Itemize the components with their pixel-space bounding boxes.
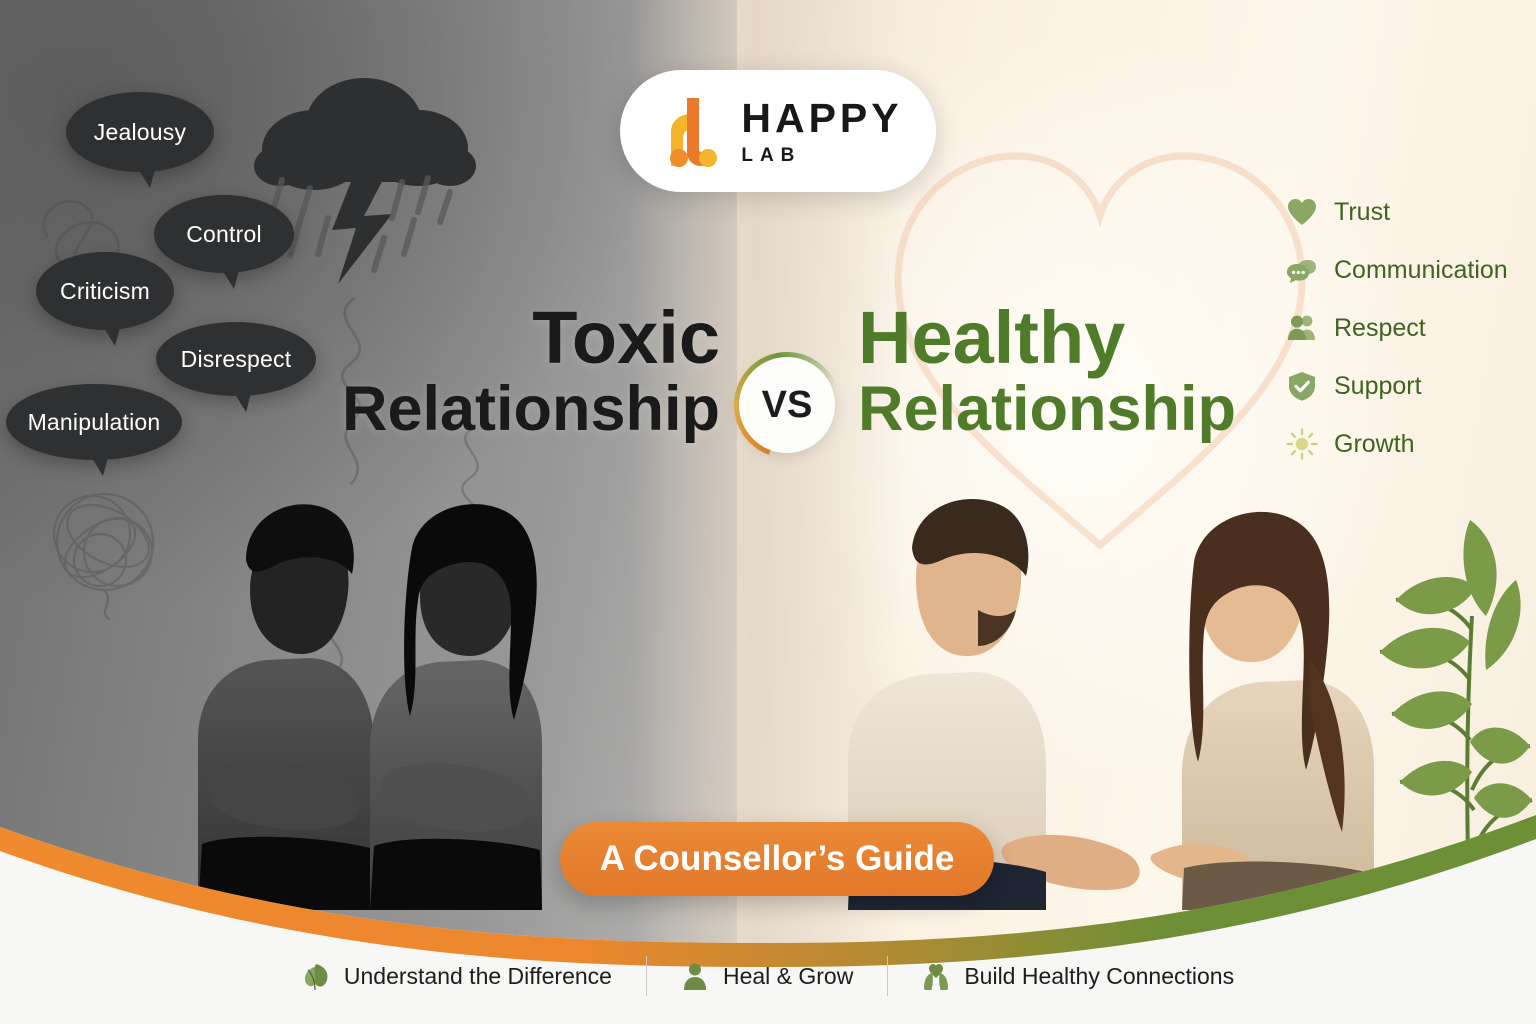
happy-lab-mark-icon [653, 94, 723, 168]
healthy-trait-growth: Growth [1286, 428, 1508, 460]
shield-check-icon [1286, 370, 1318, 402]
healthy-trait-label: Communication [1334, 256, 1508, 285]
brand-name-line1: HAPPY [741, 98, 902, 139]
toxic-bubble-criticism: Criticism [36, 252, 174, 330]
brand-logo-text: HAPPY LAB [741, 98, 902, 165]
healthy-traits-list: Trust Communication Respect [1286, 196, 1508, 460]
healthy-trait-label: Support [1334, 372, 1422, 401]
sun-icon [1286, 428, 1318, 460]
healthy-title-line2: Relationship [858, 379, 1278, 439]
healthy-trait-support: Support [1286, 370, 1508, 402]
footer-item-label: Understand the Difference [344, 963, 612, 990]
heart-hands-icon [922, 961, 950, 991]
healthy-trait-communication: Communication [1286, 254, 1508, 286]
healthy-trait-label: Respect [1334, 314, 1426, 343]
person-icon [681, 961, 709, 991]
toxic-bubble-control: Control [154, 195, 294, 273]
footer-item-label: Build Healthy Connections [964, 963, 1234, 990]
people-icon [1286, 312, 1318, 344]
footer-item-label: Heal & Grow [723, 963, 853, 990]
brand-name-line2: LAB [741, 146, 902, 165]
healthy-title: Healthy Relationship [858, 302, 1278, 440]
footer-item-understand[interactable]: Understand the Difference [268, 961, 646, 991]
healthy-trait-label: Growth [1334, 430, 1415, 459]
chat-bubble-icon [1286, 254, 1318, 286]
vs-badge: VS [739, 357, 835, 453]
healthy-title-line1: Healthy [858, 302, 1278, 373]
toxic-bubble-jealousy: Jealousy [66, 92, 214, 172]
toxic-title-line2: Relationship [330, 379, 720, 439]
footer-item-build-connections[interactable]: Build Healthy Connections [888, 961, 1268, 991]
healthy-trait-label: Trust [1334, 198, 1390, 227]
storm-cloud-icon [236, 62, 486, 302]
footer-item-heal-grow[interactable]: Heal & Grow [647, 961, 887, 991]
toxic-title: Toxic Relationship [330, 302, 720, 440]
leaf-icon [302, 961, 330, 991]
healthy-trait-trust: Trust [1286, 196, 1508, 228]
healthy-trait-respect: Respect [1286, 312, 1508, 344]
brand-logo[interactable]: HAPPY LAB [620, 70, 936, 192]
toxic-title-line1: Toxic [330, 302, 720, 373]
toxic-bubble-manipulation: Manipulation [6, 384, 182, 460]
heart-icon [1286, 196, 1318, 228]
infographic-canvas: HAPPY LAB Jealousy Control Criticism Dis… [0, 0, 1536, 1024]
toxic-bubble-disrespect: Disrespect [156, 322, 316, 396]
footer-bar: Understand the Difference Heal & Grow Bu… [0, 928, 1536, 1024]
